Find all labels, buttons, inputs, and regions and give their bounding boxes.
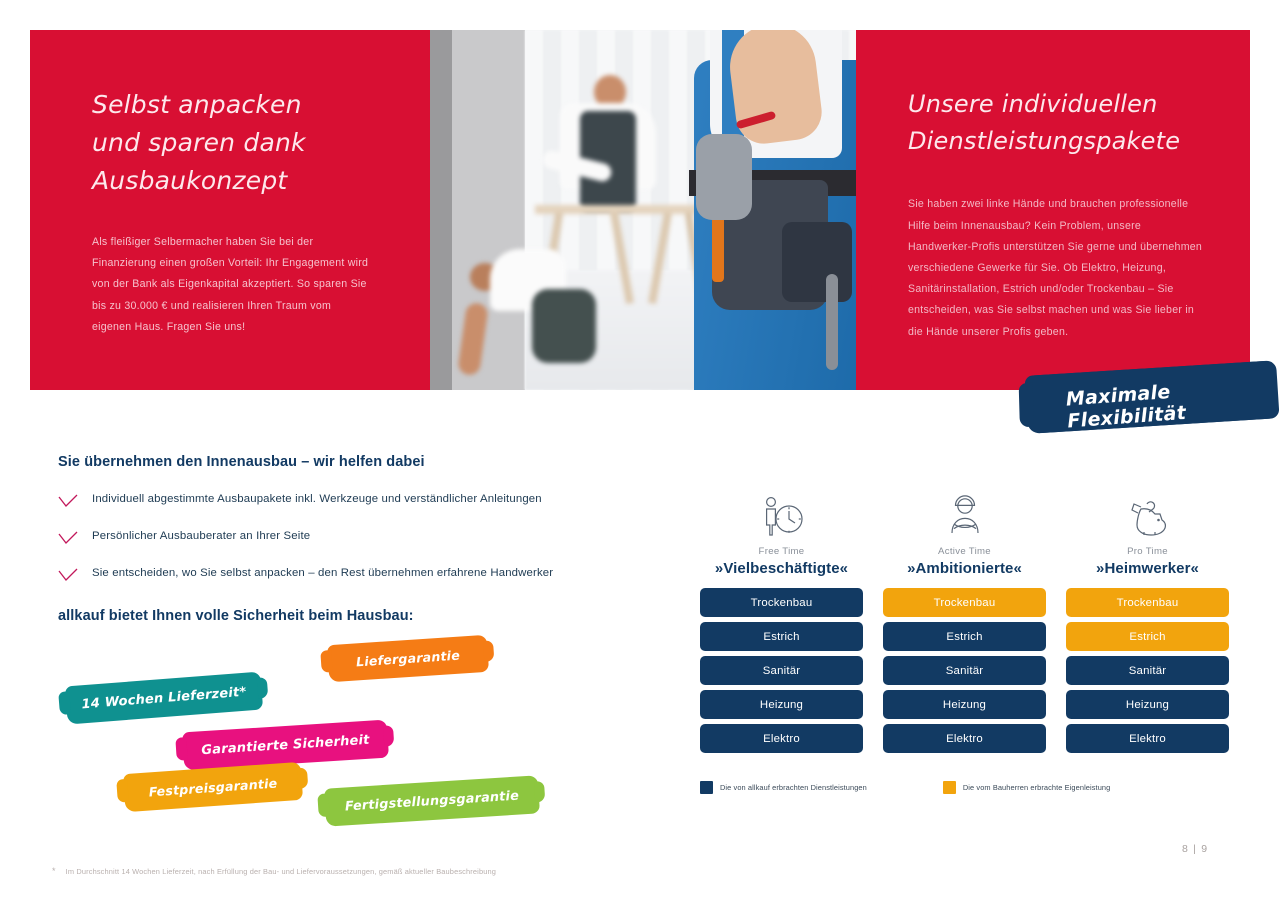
legend-label-own: Die vom Bauherren erbrachte Eigenleistun… [963,783,1110,792]
package-column-active-time: Active Time »Ambitionierte« Trockenbau E… [883,492,1046,758]
package-row-elektro[interactable]: Elektro [883,724,1046,753]
package-row-sanitaer[interactable]: Sanitär [883,656,1046,685]
legend-label-service: Die von allkauf erbrachten Dienstleistun… [720,783,867,792]
list-item: Sie entscheiden, wo Sie selbst anpacken … [58,566,578,592]
legend-swatch-own [943,781,956,794]
hero-right-heading: Unsere individuellenDienstleistungspaket… [908,86,1204,160]
package-row-trockenbau[interactable]: Trockenbau [883,588,1046,617]
checklist-title: Sie übernehmen den Innenausbau – wir hel… [58,454,425,470]
package-row-heizung[interactable]: Heizung [883,690,1046,719]
package-subtitle: Active Time [883,546,1046,557]
footnote: * Im Durchschnitt 14 Wochen Lieferzeit, … [52,867,496,876]
hero-photo [430,30,860,390]
check-icon [58,492,92,513]
package-row-estrich[interactable]: Estrich [883,622,1046,651]
hero-section: Selbst anpackenund sparen dankAusbaukonz… [30,30,1250,390]
person-clock-icon [700,492,863,540]
package-rows: Trockenbau Estrich Sanitär Heizung Elekt… [700,588,863,753]
hero-right-body: Sie haben zwei linke Hände und brauchen … [908,194,1204,342]
photo-worker-background [548,75,668,225]
package-row-estrich[interactable]: Estrich [700,622,863,651]
page-number: 8 | 9 [1182,843,1208,855]
checklist-item-label: Individuell abgestimmte Ausbaupakete ink… [92,492,542,506]
footnote-star: * [52,867,56,876]
photo-worker-kneeling [462,245,597,365]
package-row-elektro[interactable]: Elektro [700,724,863,753]
legend-item-own: Die vom Bauherren erbrachte Eigenleistun… [943,781,1110,794]
hero-right-panel: Unsere individuellenDienstleistungspaket… [860,30,1250,390]
security-title: allkauf bietet Ihnen volle Sicherheit be… [58,608,414,624]
package-rows: Trockenbau Estrich Sanitär Heizung Elekt… [883,588,1046,753]
checklist: Individuell abgestimmte Ausbaupakete ink… [58,492,578,603]
piggy-bank-coin-icon [1066,492,1229,540]
package-row-heizung[interactable]: Heizung [700,690,863,719]
list-item: Persönlicher Ausbauberater an Ihrer Seit… [58,529,578,555]
package-row-sanitaer[interactable]: Sanitär [700,656,863,685]
hero-left-panel: Selbst anpackenund sparen dankAusbaukonz… [30,30,430,390]
badge-fertigstellung: Fertigstellungsgarantie [324,775,540,826]
package-row-estrich[interactable]: Estrich [1066,622,1229,651]
package-column-pro-time: Pro Time »Heimwerker« Trockenbau Estrich… [1066,492,1229,758]
badge-lieferzeit: 14 Wochen Lieferzeit* [65,672,263,725]
hero-left-body: Als fleißiger Selbermacher haben Sie bei… [92,232,370,338]
package-row-trockenbau[interactable]: Trockenbau [700,588,863,617]
package-rows: Trockenbau Estrich Sanitär Heizung Elekt… [1066,588,1229,753]
check-icon [58,529,92,550]
guarantee-badge-cloud: 14 Wochen Lieferzeit* Liefergarantie Gar… [50,640,570,825]
list-item: Individuell abgestimmte Ausbaupakete ink… [58,492,578,518]
photo-worker-foreground [664,30,860,390]
package-row-elektro[interactable]: Elektro [1066,724,1229,753]
check-icon [58,566,92,587]
package-name: »Vielbeschäftigte« [700,560,863,577]
package-subtitle: Pro Time [1066,546,1229,557]
package-row-heizung[interactable]: Heizung [1066,690,1229,719]
flex-badge-label: Maximale Flexibilität [1065,373,1280,432]
checklist-item-label: Sie entscheiden, wo Sie selbst anpacken … [92,566,553,580]
footnote-text: Im Durchschnitt 14 Wochen Lieferzeit, na… [66,867,496,876]
packages-legend: Die von allkauf erbrachten Dienstleistun… [700,781,1110,794]
service-packages: Free Time »Vielbeschäftigte« Trockenbau … [700,492,1230,758]
badge-liefergarantie: Liefergarantie [327,635,489,683]
package-name: »Heimwerker« [1066,560,1229,577]
legend-swatch-service [700,781,713,794]
hero-left-heading: Selbst anpackenund sparen dankAusbaukonz… [92,86,370,200]
package-subtitle: Free Time [700,546,863,557]
photo-red-stripe [856,30,860,390]
checklist-item-label: Persönlicher Ausbauberater an Ihrer Seit… [92,529,310,543]
legend-item-service: Die von allkauf erbrachten Dienstleistun… [700,781,867,794]
package-name: »Ambitionierte« [883,560,1046,577]
package-row-sanitaer[interactable]: Sanitär [1066,656,1229,685]
package-row-trockenbau[interactable]: Trockenbau [1066,588,1229,617]
package-column-free-time: Free Time »Vielbeschäftigte« Trockenbau … [700,492,863,758]
worker-crossed-arms-icon [883,492,1046,540]
badge-festpreis: Festpreisgarantie [123,762,303,812]
